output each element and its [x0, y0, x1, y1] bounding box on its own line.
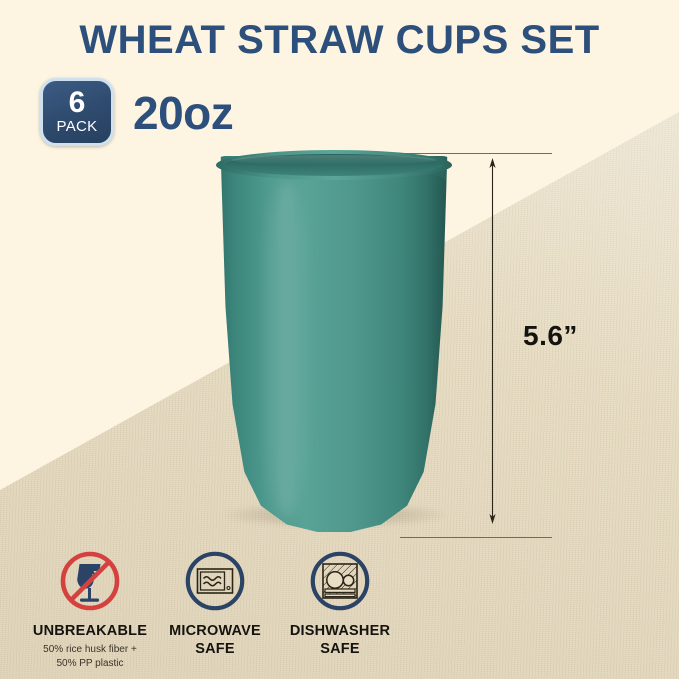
product-infographic: WHEAT STRAW CUPS SET 6 PACK 20oz 5.6”	[0, 0, 679, 679]
feature-title-line1: MICROWAVE	[169, 622, 261, 640]
page-title: WHEAT STRAW CUPS SET	[79, 18, 599, 63]
capacity-label: 20oz	[133, 86, 233, 140]
dimension-label: 5.6”	[523, 320, 578, 352]
pack-count-number: 6	[69, 88, 86, 118]
feature-title-line2: SAFE	[290, 640, 390, 658]
feature-badges: UNBREAKABLE 50% rice husk fiber + 50% PP…	[0, 548, 420, 679]
feature-title: UNBREAKABLE	[33, 622, 147, 640]
feature-title: MICROWAVE SAFE	[169, 622, 261, 658]
microwave-icon	[184, 548, 246, 614]
feature-subtitle: 50% rice husk fiber + 50% PP plastic	[43, 643, 137, 670]
cup-image	[216, 150, 452, 538]
feature-microwave-safe: MICROWAVE SAFE	[145, 548, 285, 658]
pack-count-badge: 6 PACK	[40, 78, 114, 146]
cup-edge-shading	[426, 174, 452, 514]
feature-unbreakable: UNBREAKABLE 50% rice husk fiber + 50% PP…	[20, 548, 160, 670]
feature-title-line2: SAFE	[169, 640, 261, 658]
cup-highlight	[260, 180, 314, 516]
cup-body	[216, 156, 452, 532]
feature-dishwasher-safe: DISHWASHER SAFE	[270, 548, 410, 658]
feature-title: DISHWASHER SAFE	[290, 622, 390, 658]
no-broken-glass-icon	[59, 548, 121, 614]
dishwasher-icon	[309, 548, 371, 614]
feature-subtitle-line2: 50% PP plastic	[43, 657, 137, 671]
dimension-arrow-icon	[488, 158, 497, 524]
cup-rim-gloss	[232, 155, 436, 165]
feature-title-line1: DISHWASHER	[290, 622, 390, 640]
feature-subtitle-line1: 50% rice husk fiber +	[43, 643, 137, 657]
pack-count-word: PACK	[57, 119, 98, 134]
cup-rim	[216, 150, 452, 180]
dimension-guide-bottom	[400, 537, 552, 538]
dimension-guide-top	[400, 153, 552, 154]
